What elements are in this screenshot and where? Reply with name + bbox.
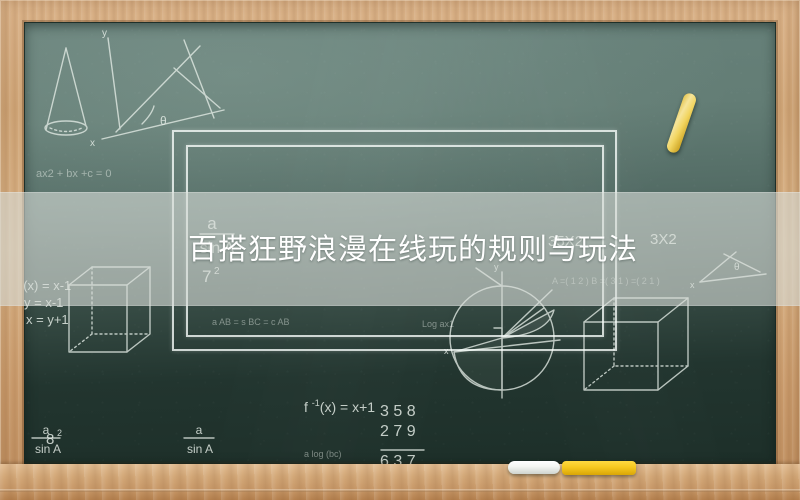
yellow-chalk-stick-on-ledge <box>562 461 636 475</box>
chalk-exponent-eight-sup: 2 <box>57 428 62 438</box>
chalk-fraction-denominator-bottomleft-b: sin A <box>187 442 213 456</box>
angle-axis-diagram <box>102 38 224 139</box>
title-overlay-band: 百搭狂野浪漫在线玩的规则与玩法 <box>0 192 800 306</box>
chalk-inverse-sup: -1 <box>312 398 320 408</box>
chalk-sum-row-2: 2 7 9 <box>380 423 416 440</box>
white-chalk-stick-on-ledge <box>508 461 560 474</box>
page-title: 百搭狂野浪漫在线玩的规则与玩法 <box>188 234 638 264</box>
chalk-quadratic-equation: ax2 + bx +c = 0 <box>36 168 112 180</box>
chalk-inverse-function: f -1(x) = x+1 <box>304 398 375 415</box>
chalk-axis-y-topleft: y <box>102 28 107 39</box>
chalk-fraction-denominator-bottomleft-a: sin A <box>35 442 61 456</box>
chalk-fraction-numerator-bottomleft-a: a <box>43 423 50 437</box>
cone-diagram <box>45 48 87 135</box>
wooden-chalk-ledge <box>0 464 800 500</box>
ledge-highlight-lip <box>0 489 800 492</box>
chalk-angle-label-topleft: θ <box>160 114 167 128</box>
chalk-sum-row-1: 3 5 8 <box>380 403 416 420</box>
screenshot-stage: a sin A y x θ ax2 + bx +c = 0 f (x) = x-… <box>0 0 800 500</box>
chalk-log-small: a log (bc) <box>304 449 342 459</box>
chalk-fraction-numerator-bottomleft-b: a <box>196 423 203 437</box>
chalk-axis-x-topleft: x <box>90 138 95 149</box>
chalk-exponent-eight: 8 <box>46 431 54 448</box>
chalk-sum-total: 6 3 7 <box>380 453 416 464</box>
chalk-function-line-3: x = y+1 <box>26 312 69 327</box>
